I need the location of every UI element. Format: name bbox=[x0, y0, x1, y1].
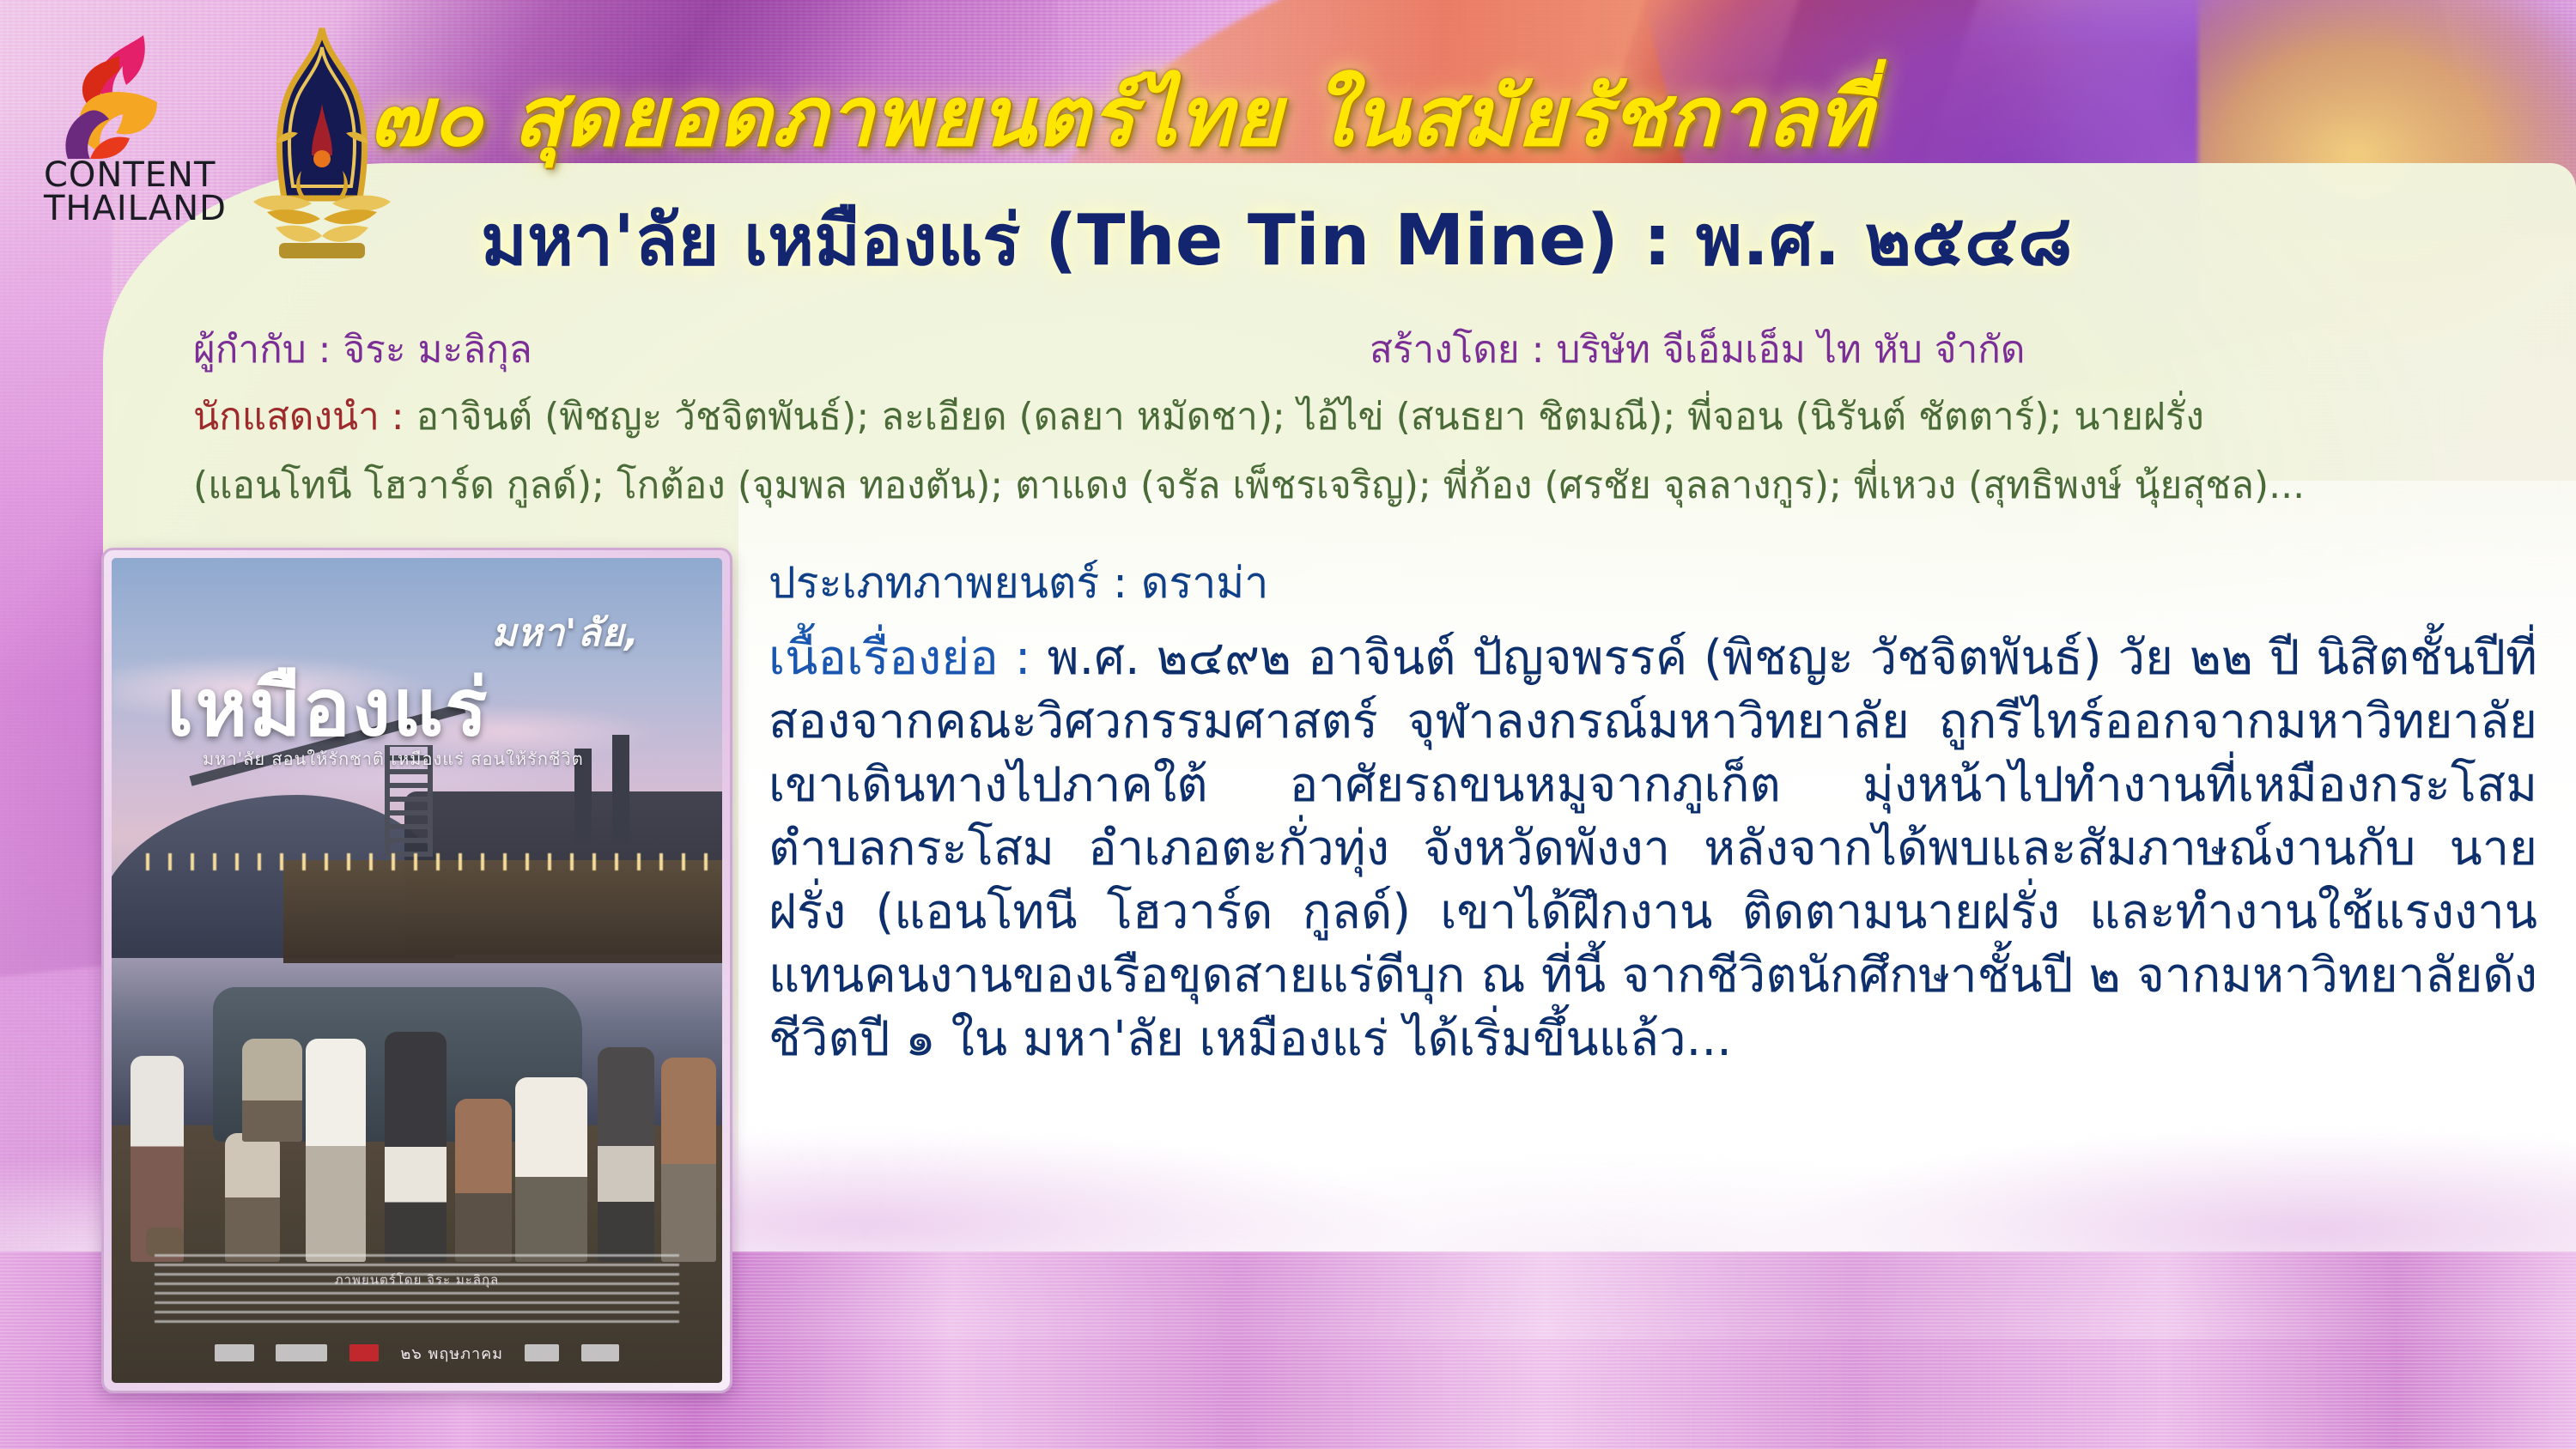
synopsis-block: เนื้อเรื่องย่อ : พ.ศ. ๒๔๙๒ อาจินต์ ปัญจพ… bbox=[769, 627, 2537, 1071]
poster-smokestack-2 bbox=[612, 735, 629, 843]
cast-line-1: นักแสดงนำ : อาจินต์ (พิชญะ วัชจิตพันธ์);… bbox=[193, 385, 2204, 450]
poster-release-date: ๒๖ พฤษภาคม bbox=[400, 1341, 503, 1366]
producer-value: บริษัท จีเอ็มเอ็ม ไท หับ จำกัด bbox=[1556, 328, 2025, 372]
cast-value-line2: (แอนโทนี โฮวาร์ด กูลด์); โกต้อง (จุมพล ท… bbox=[193, 464, 2305, 507]
cast-line-2: (แอนโทนี โฮวาร์ด กูลด์); โกต้อง (จุมพล ท… bbox=[193, 453, 2305, 518]
logo-label-line1: CONTENT bbox=[44, 159, 224, 192]
poster-credit-block bbox=[155, 1251, 679, 1323]
synopsis-paragraph: เนื้อเรื่องย่อ : พ.ศ. ๒๔๙๒ อาจินต์ ปัญจพ… bbox=[769, 627, 2537, 1071]
producer-line: สร้างโดย : บริษัท จีเอ็มเอ็ม ไท หับ จำกั… bbox=[1370, 318, 2026, 383]
poster-figure bbox=[242, 1039, 302, 1142]
poster-studio-logo bbox=[525, 1344, 559, 1361]
poster-studio-logos: ๒๖ พฤษภาคม bbox=[215, 1342, 619, 1364]
producer-label: สร้างโดย : bbox=[1370, 328, 1544, 372]
genre-line: ประเภทภาพยนตร์ : ดราม่า bbox=[769, 549, 1268, 617]
poster-dredge-shed bbox=[283, 860, 722, 963]
genre-value: ดราม่า bbox=[1141, 558, 1268, 608]
credits-row-primary: ผู้กำกับ : จิระ มะลิกุล สร้างโดย : บริษั… bbox=[193, 318, 2529, 383]
poster-cast-figures bbox=[112, 961, 722, 1262]
poster-studio-logo bbox=[581, 1344, 619, 1361]
film-title: มหา'ลัย เหมืองแร่ (The Tin Mine) : พ.ศ. … bbox=[481, 185, 2456, 279]
poster-figure bbox=[385, 1032, 447, 1262]
cast-label: นักแสดงนำ : bbox=[193, 395, 404, 439]
the-tin-mine-movie-poster: มหา'ลัย, เหมืองแร่ มหา'ลัย สอนให้รักชาติ… bbox=[112, 558, 722, 1383]
director-value: จิระ มะลิกุล bbox=[343, 328, 532, 372]
poster-figure bbox=[515, 1077, 587, 1262]
poster-figure bbox=[661, 1058, 716, 1262]
page-title: ๗๐ สุดยอดภาพยนตร์ไทย ในสมัยรัชกาลที่ bbox=[369, 52, 2361, 155]
credits-block: ผู้กำกับ : จิระ มะลิกุล สร้างโดย : บริษั… bbox=[193, 318, 2529, 383]
poster-frame[interactable]: มหา'ลัย, เหมืองแร่ มหา'ลัย สอนให้รักชาติ… bbox=[101, 548, 732, 1393]
poster-studio-logo bbox=[215, 1344, 254, 1361]
synopsis-text: พ.ศ. ๒๔๙๒ อาจินต์ ปัญจพรรค์ (พิชญะ วัชจิ… bbox=[769, 630, 2537, 1067]
poster-tagline: มหา'ลัย สอนให้รักชาติ เหมืองแร่ สอนให้รั… bbox=[203, 745, 584, 773]
director-line: ผู้กำกับ : จิระ มะลิกุล bbox=[193, 318, 532, 383]
poster-figure bbox=[598, 1047, 654, 1262]
cast-value-line1: อาจินต์ (พิชญะ วัชจิตพันธ์); ละเอียด (ดล… bbox=[416, 395, 2204, 439]
director-label: ผู้กำกับ : bbox=[193, 328, 331, 372]
poster-figure bbox=[306, 1039, 366, 1262]
content-thailand-wordmark: CONTENT THAILAND bbox=[44, 159, 224, 226]
poster-studio-logo bbox=[276, 1344, 327, 1361]
content-thailand-logo: CONTENT THAILAND bbox=[47, 30, 210, 262]
logo-label-line2: THAILAND bbox=[44, 192, 224, 226]
synopsis-label: เนื้อเรื่องย่อ : bbox=[769, 630, 1031, 686]
genre-label: ประเภทภาพยนตร์ : bbox=[769, 558, 1127, 608]
poster-string-lights bbox=[146, 853, 713, 870]
poster-studio-logo bbox=[349, 1344, 379, 1361]
poster-figure bbox=[225, 1133, 280, 1262]
slide-canvas: CONTENT THAILAND ๗๐ สุดยอดภาพยนตร์ไทย ใน… bbox=[0, 0, 2576, 1449]
poster-title-top: มหา'ลัย, bbox=[491, 603, 640, 663]
poster-figure bbox=[455, 1099, 512, 1262]
flame-icon bbox=[47, 30, 210, 159]
